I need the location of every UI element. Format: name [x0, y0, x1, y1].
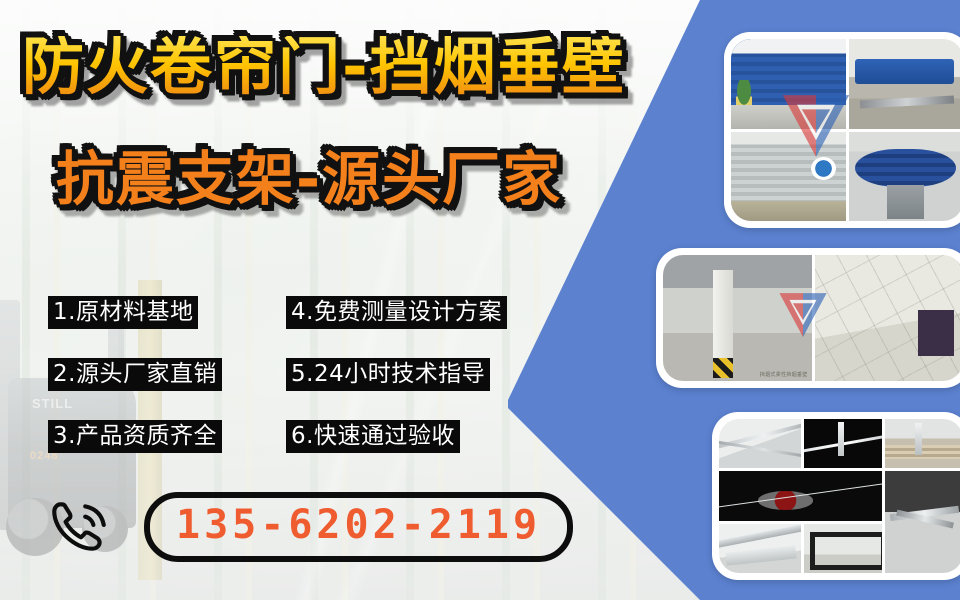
photo-pipe-brace-ceiling [719, 419, 801, 468]
collage-seismic-bracing[interactable] [712, 412, 960, 580]
feature-col-right: 4.免费测量设计方案 [286, 296, 507, 329]
feature-list: 1.原材料基地 4.免费测量设计方案 2.源头厂家直销 5.24小时技术指导 3… [48, 296, 548, 482]
photo-parking-garage-interior: 挡烟式柔性挡烟垂壁 [663, 255, 812, 381]
photo-grid: 挡烟式柔性挡烟垂壁 [663, 255, 960, 381]
photo-grey-rolling-shutter-corridor [731, 132, 846, 222]
headline-2: 抗震支架-源头厂家 [56, 150, 562, 208]
feature-item-5: 5.24小时技术指导 [286, 358, 490, 391]
feature-row: 2.源头厂家直销 5.24小时技术指导 [48, 358, 548, 391]
photo-duct-clamp-brace [885, 419, 960, 468]
collage-smoke-barrier[interactable]: 挡烟式柔性挡烟垂壁 [656, 248, 960, 388]
photo-ceiling-fan-brace [885, 471, 960, 573]
photo-shutter-forming-machine [849, 39, 960, 129]
headline-1: 防火卷帘门-挡烟垂壁 [22, 36, 626, 98]
photo-dark-fan-brace [719, 471, 882, 520]
feature-item-2: 2.源头厂家直销 [48, 358, 222, 391]
phone-number: 135-6202-2119 [176, 502, 541, 548]
collage-fire-shutter-doors[interactable] [724, 32, 960, 228]
feature-col-left: 2.源头厂家直销 [48, 358, 286, 391]
advertisement-poster: STILL 0248 防火卷帘门-挡烟垂壁 防火卷帘门-挡烟垂壁 抗震支架-源头… [0, 0, 960, 600]
photo-caption: 挡烟式柔性挡烟垂壁 [760, 371, 808, 378]
contact-phone-row[interactable]: 135-6202-2119 [46, 492, 573, 562]
feature-item-6: 6.快速通过验收 [286, 420, 460, 453]
feature-col-right: 5.24小时技术指导 [286, 358, 490, 391]
feature-item-4: 4.免费测量设计方案 [286, 296, 507, 329]
feature-item-3: 3.产品资质齐全 [48, 420, 222, 453]
photo-steel-frame-room [804, 524, 882, 573]
feature-row: 3.产品资质齐全 6.快速通过验收 [48, 420, 548, 453]
feature-col-right: 6.快速通过验收 [286, 420, 460, 453]
photo-grid [719, 419, 960, 573]
photo-dark-brace-detail [804, 419, 882, 468]
photo-blue-rolling-shutter-door [731, 39, 846, 129]
feature-col-left: 3.产品资质齐全 [48, 420, 286, 453]
headline-group: 防火卷帘门-挡烟垂壁 防火卷帘门-挡烟垂壁 抗震支架-源头厂家 抗震支架-源头厂… [0, 0, 700, 240]
photo-duct-support-rail [719, 524, 801, 573]
phone-number-box[interactable]: 135-6202-2119 [144, 492, 573, 562]
photo-ceiling-smoke-barrier [815, 255, 960, 381]
feature-item-1: 1.原材料基地 [48, 296, 198, 329]
feature-row: 1.原材料基地 4.免费测量设计方案 [48, 296, 548, 329]
feature-col-left: 1.原材料基地 [48, 296, 286, 329]
photo-blue-shutter-roll-drum [849, 132, 960, 222]
photo-grid [731, 39, 960, 221]
phone-call-icon [46, 494, 112, 560]
